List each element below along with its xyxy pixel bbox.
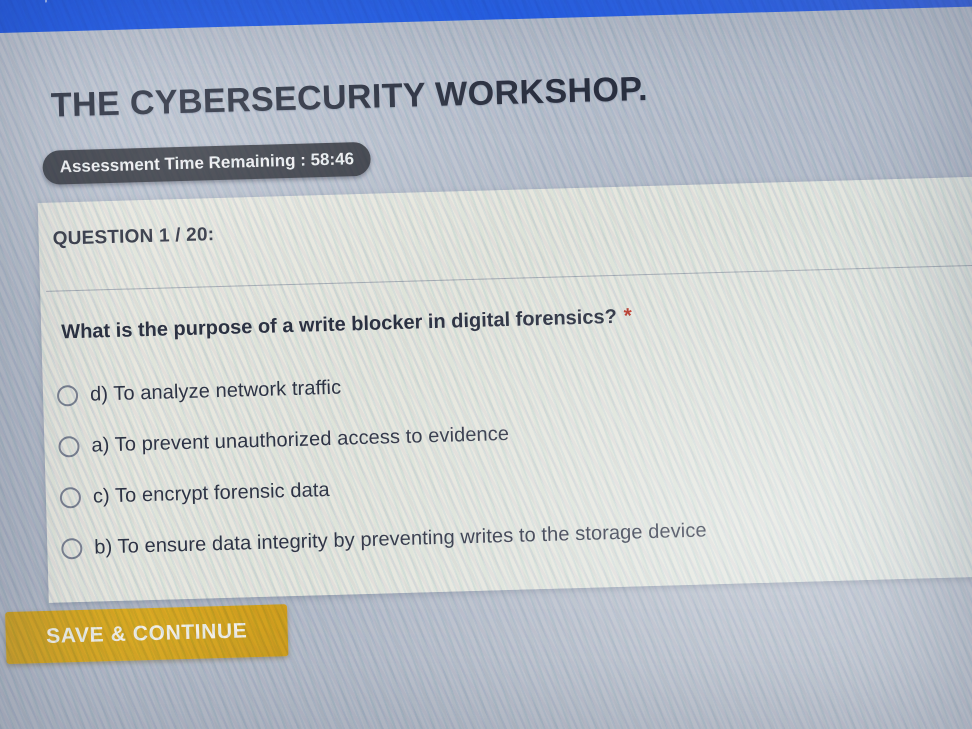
required-asterisk: *: [623, 304, 632, 327]
answer-options-list: d) To analyze network traffic a) To prev…: [56, 343, 972, 575]
page-title: THE CYBERSECURITY WORKSHOP.: [50, 70, 648, 126]
answer-option-a-label: a) To prevent unauthorized access to evi…: [91, 423, 509, 458]
answer-option-d-label: d) To analyze network traffic: [90, 377, 342, 407]
question-card: QUESTION 1 / 20: What is the purpose of …: [38, 175, 972, 603]
radio-button-d-icon[interactable]: [57, 385, 79, 407]
radio-button-c-icon[interactable]: [60, 487, 82, 509]
save-and-continue-button[interactable]: SAVE & CONTINUE: [5, 604, 288, 664]
question-text: What is the purpose of a write blocker i…: [61, 304, 632, 344]
radio-button-b-icon[interactable]: [61, 538, 83, 560]
photographed-screen: THE CYBERSECURITY WORKSHOP. Assessment T…: [0, 0, 972, 729]
question-prompt: What is the purpose of a write blocker i…: [61, 306, 617, 344]
answer-option-b-label: b) To ensure data integrity by preventin…: [94, 519, 707, 559]
assessment-timer-badge: Assessment Time Remaining : 58:46: [42, 142, 371, 185]
page-content-plane: THE CYBERSECURITY WORKSHOP. Assessment T…: [0, 0, 972, 729]
card-divider: [46, 263, 972, 292]
answer-option-c-label: c) To encrypt forensic data: [93, 479, 330, 509]
radio-button-a-icon[interactable]: [58, 436, 80, 458]
question-number: QUESTION 1 / 20:: [52, 224, 214, 251]
